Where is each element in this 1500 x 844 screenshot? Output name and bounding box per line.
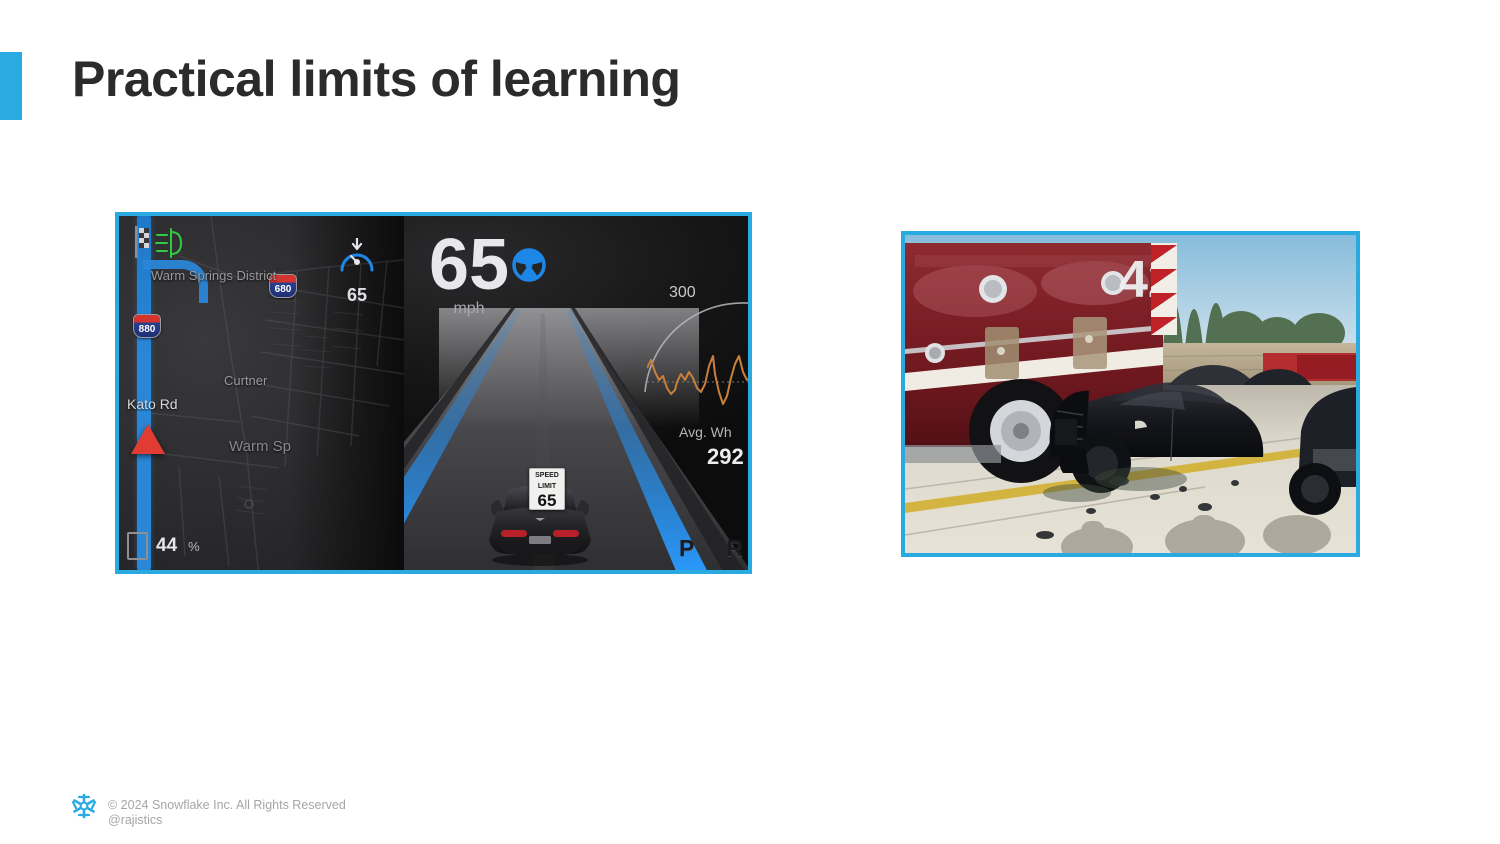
- speed-unit: mph: [394, 300, 544, 318]
- autopilot-status: [512, 248, 546, 287]
- energy-consumption-graph: [647, 344, 752, 414]
- battery-percent: 44: [156, 535, 177, 557]
- crash-scene-photo: 42: [905, 235, 1356, 553]
- speed-limit-line2: LIMIT: [530, 483, 564, 491]
- tesla-cluster-screen: SPEED LIMIT 65: [119, 216, 748, 570]
- crash-scene-render: 42: [905, 235, 1356, 553]
- crash-photo-figure: 42: [901, 231, 1360, 557]
- navigation-arrow-icon: [131, 424, 165, 454]
- cruise-control-icon: [333, 238, 381, 278]
- tesla-instrument-cluster-figure: SPEED LIMIT 65: [115, 212, 752, 574]
- title-accent-bar: [0, 52, 22, 120]
- footer-copyright: © 2024 Snowflake Inc. All Rights Reserve…: [108, 798, 346, 813]
- footer-handle: @rajistics: [108, 813, 346, 828]
- cruise-control-readout: 65: [333, 238, 381, 306]
- footer-text: © 2024 Snowflake Inc. All Rights Reserve…: [108, 792, 346, 828]
- battery-icon: [127, 532, 148, 560]
- speed-limit-sign: SPEED LIMIT 65: [529, 468, 565, 510]
- map-label-curtner: Curtner: [224, 373, 267, 388]
- page-title: Practical limits of learning: [72, 50, 680, 108]
- steering-wheel-icon: [512, 248, 546, 282]
- snowflake-icon: [70, 792, 98, 820]
- avg-wh-label: Avg. Wh: [679, 424, 732, 440]
- cruise-set-speed: 65: [333, 285, 381, 306]
- footer: © 2024 Snowflake Inc. All Rights Reserve…: [70, 792, 346, 828]
- speed-limit-line1: SPEED: [530, 472, 564, 480]
- speed-limit-value: 65: [530, 491, 564, 510]
- avg-wh-value: 292: [707, 444, 744, 470]
- highway-shield-880: 880: [133, 314, 161, 338]
- map-label-kato-rd: Kato Rd: [127, 396, 178, 412]
- map-label-warm-springs-district: Warm Springs District: [151, 268, 276, 283]
- tell-tale-svg: [133, 226, 195, 260]
- battery-percent-symbol: %: [188, 539, 200, 554]
- battery-readout: 44 %: [127, 532, 200, 560]
- map-label-warm-sp: Warm Sp: [229, 438, 291, 455]
- tell-tale-indicators: [133, 226, 195, 265]
- gear-indicator: P R N: [679, 535, 752, 562]
